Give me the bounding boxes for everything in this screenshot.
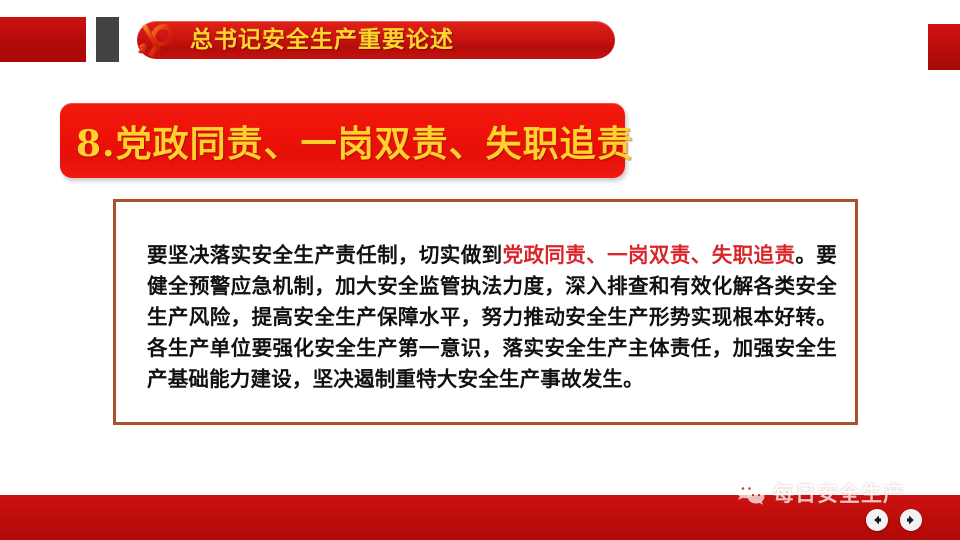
watermark-label: 每日安全生产 xyxy=(773,478,905,508)
header-left-red-bar xyxy=(0,17,86,62)
arrow-right-icon xyxy=(905,514,917,526)
top-right-red-accent xyxy=(928,24,960,70)
header-gray-bar xyxy=(96,17,119,62)
content-paragraph: 要坚决落实安全生产责任制，切实做到党政同责、一岗双责、失职追责。要健全预警应急机… xyxy=(147,240,837,395)
slide-title-text: 8.党政同责、一岗双责、失职追责 xyxy=(60,103,625,178)
arrow-left-icon xyxy=(871,514,883,526)
watermark: 每日安全生产 xyxy=(735,478,905,508)
prev-slide-button[interactable] xyxy=(866,509,888,531)
wechat-icon xyxy=(735,480,765,506)
content-segment-plain-1: 要坚决落实安全生产责任制，切实做到 xyxy=(147,243,503,267)
slide-canvas: 总书记安全生产重要论述 8.党政同责、一岗双责、失职追责 要坚决落实安全生产责任… xyxy=(0,0,960,540)
content-segment-highlight: 党政同责、一岗双责、失职追责 xyxy=(503,243,796,267)
slide-title-banner: 8.党政同责、一岗双责、失职追责 xyxy=(60,103,625,178)
content-box: 要坚决落实安全生产责任制，切实做到党政同责、一岗双责、失职追责。要健全预警应急机… xyxy=(113,199,858,425)
header-banner-title: 总书记安全生产重要论述 xyxy=(190,22,590,58)
next-slide-button[interactable] xyxy=(900,509,922,531)
party-emblem-icon xyxy=(129,16,181,64)
navigation-controls xyxy=(866,509,922,531)
